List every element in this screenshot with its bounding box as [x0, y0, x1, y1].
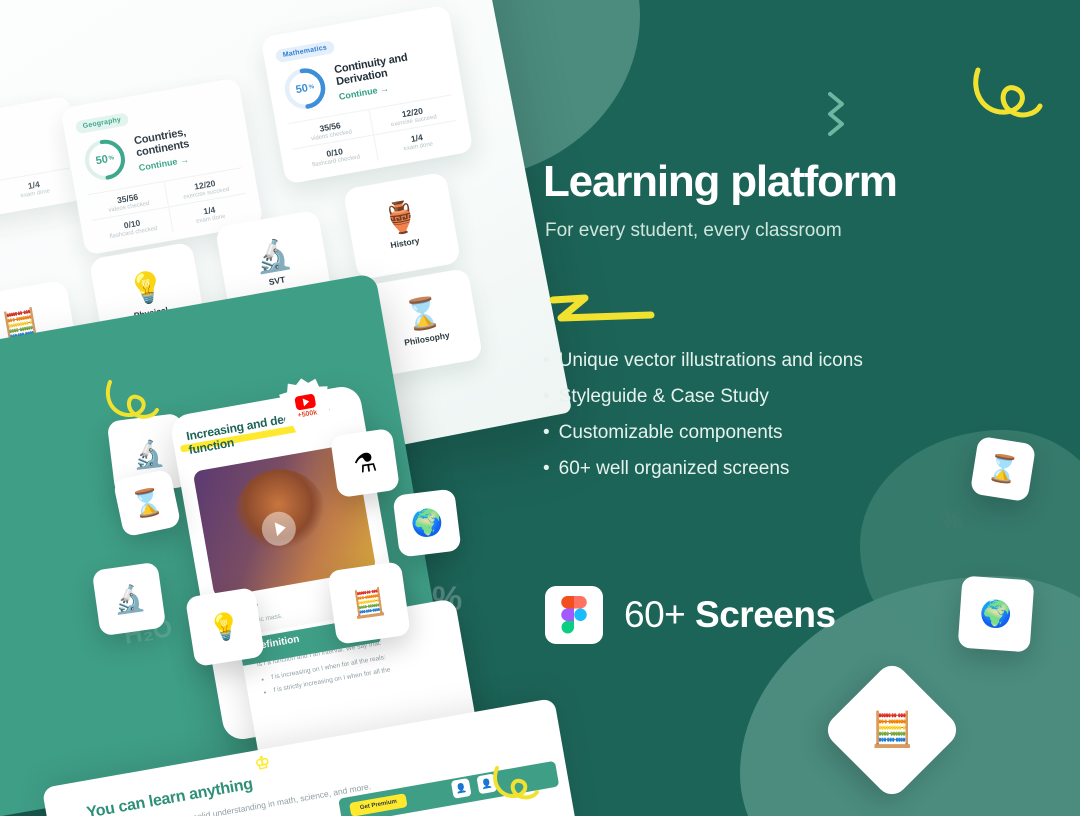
arrow-right-icon: → [179, 155, 190, 166]
youtube-count: +500k [297, 409, 318, 419]
poster-canvas: % % % ...and 12/20 exercise succeed 1/4 … [0, 0, 1080, 816]
subject-tile-history[interactable]: 🏺 History [343, 172, 461, 281]
feature-list: Unique vector illustrations and icons St… [543, 350, 863, 494]
microscope-icon: 🔬 [111, 584, 147, 614]
page-title: Learning platform [543, 157, 897, 207]
floating-card-lightbulb[interactable]: 💡 [185, 587, 265, 667]
screens-text: 60+ Screens [624, 594, 836, 636]
lightbulb-icon: 💡 [207, 612, 243, 643]
globe-icon: 🌍 [409, 508, 444, 538]
progress-ring: 50% [78, 133, 131, 186]
feature-item: Styleguide & Case Study [543, 386, 863, 408]
feature-item: Unique vector illustrations and icons [543, 350, 863, 372]
calculator-icon: 🧮 [351, 588, 387, 618]
subject-badge: Geography [75, 112, 129, 134]
progress-percent: 50% [278, 62, 331, 115]
progress-ring: 50% [278, 62, 331, 115]
screens-callout: 60+ Screens [545, 586, 836, 644]
screens-label: Screens [695, 594, 836, 635]
floating-card-globe[interactable]: 🌍 [392, 488, 461, 557]
figma-logo-icon [545, 586, 603, 644]
page-subtitle: For every student, every classroom [545, 220, 842, 242]
floating-card-hourglass[interactable]: ⌛ [113, 469, 182, 538]
user-avatar-icon[interactable]: 👤 [476, 773, 497, 794]
arrow-right-icon: → [379, 84, 390, 95]
microscope-icon: 🔬 [252, 239, 294, 275]
feature-item: Customizable components [543, 422, 863, 444]
flask-icon: ⚗ [352, 449, 379, 478]
feature-item: 60+ well organized screens [543, 458, 863, 480]
amphora-vase-icon: 🏺 [380, 201, 422, 237]
stat-item: 1/4 exam done [0, 169, 74, 207]
user-avatar-icon[interactable]: 👤 [451, 778, 472, 799]
subject-badge: Mathematics [275, 40, 335, 63]
progress-percent: 50% [78, 133, 131, 186]
subject-tile-label: History [390, 235, 421, 250]
youtube-icon [294, 393, 316, 410]
floating-card-flask[interactable]: ⚗ [330, 428, 400, 498]
subject-tile-label: SVT [268, 274, 286, 287]
hourglass-icon: ⌛ [402, 297, 444, 333]
screens-count: 60+ [624, 594, 685, 635]
hourglass-icon: ⌛ [128, 487, 165, 519]
lightbulb-book-icon: 💡 [126, 271, 168, 307]
marketing-column: Learning platform For every student, eve… [543, 0, 1063, 816]
floating-card-microscope[interactable]: 🔬 [92, 562, 167, 637]
microscope-icon: 🔬 [130, 439, 165, 469]
crown-icon: ♔ [253, 752, 271, 774]
floating-card-calculator[interactable]: 🧮 [327, 561, 411, 645]
